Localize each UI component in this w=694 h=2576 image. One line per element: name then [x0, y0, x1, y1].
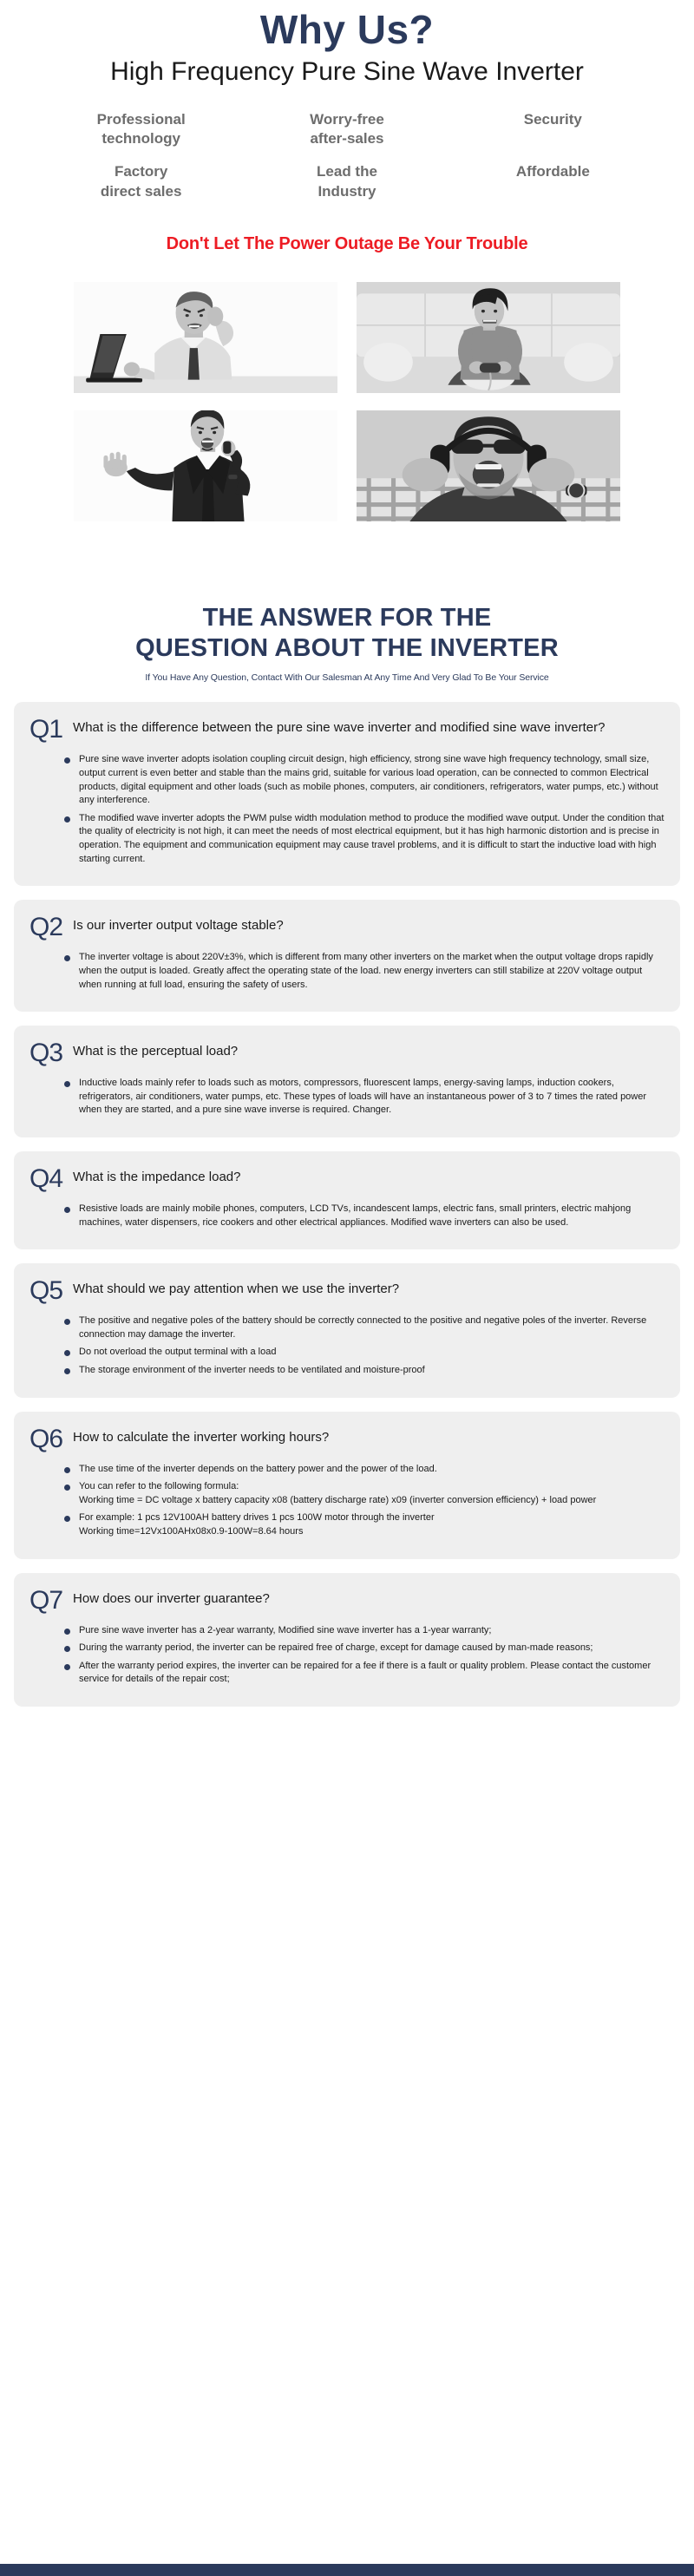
- faq-question: How does our inverter guarantee?: [73, 1587, 270, 1608]
- faq-answer-text: Pure sine wave inverter adopts isolation…: [79, 753, 665, 807]
- page-subtitle: High Frequency Pure Sine Wave Inverter: [0, 57, 694, 86]
- faq-answer-text: During the warranty period, the inverter…: [79, 1642, 593, 1655]
- answer-subheading: If You Have Any Question, Contact With O…: [17, 672, 677, 683]
- feature-item: Affordable: [450, 162, 656, 200]
- faq-answer-item: Resistive loads are mainly mobile phones…: [64, 1203, 665, 1229]
- bullet-icon: [64, 816, 70, 823]
- faq-list: Q1 What is the difference between the pu…: [0, 683, 694, 1707]
- feature-item: Lead the Industry: [244, 162, 449, 200]
- faq-answer-item: The storage environment of the inverter …: [64, 1364, 665, 1378]
- faq-number: Q3: [29, 1039, 62, 1066]
- faq-answer-item: During the warranty period, the inverter…: [64, 1642, 665, 1655]
- faq-answer-text: Pure sine wave inverter has a 2-year war…: [79, 1624, 491, 1638]
- faq-number: Q7: [29, 1587, 62, 1614]
- faq-answer-text: The use time of the inverter depends on …: [79, 1463, 437, 1477]
- faq-header: Q4 What is the impedance load?: [29, 1165, 665, 1192]
- hero-section: Why Us? High Frequency Pure Sine Wave In…: [0, 0, 694, 86]
- feature-item: Professional technology: [38, 110, 244, 148]
- bullet-icon: [64, 1319, 70, 1325]
- answer-heading-line1: THE ANSWER FOR THE: [203, 604, 492, 632]
- faq-question: What should we pay attention when we use…: [73, 1277, 399, 1298]
- faq-question: What is the perceptual load?: [73, 1039, 238, 1060]
- photo-screaming-man-with-headphones: [357, 410, 620, 521]
- faq-answer-item: For example: 1 pcs 12V100AH battery driv…: [64, 1511, 665, 1538]
- bullet-icon: [64, 757, 70, 764]
- faq-card[interactable]: Q7 How does our inverter guarantee? Pure…: [14, 1573, 680, 1707]
- faq-header: Q3 What is the perceptual load?: [29, 1039, 665, 1066]
- faq-card[interactable]: Q1 What is the difference between the pu…: [14, 702, 680, 886]
- bullet-icon: [64, 1485, 70, 1491]
- faq-question: How to calculate the inverter working ho…: [73, 1426, 329, 1446]
- faq-answers: Pure sine wave inverter adopts isolation…: [64, 753, 665, 866]
- faq-answer-text: The storage environment of the inverter …: [79, 1364, 425, 1378]
- faq-card[interactable]: Q6 How to calculate the inverter working…: [14, 1412, 680, 1559]
- faq-answer-item: You can refer to the following formula: …: [64, 1480, 665, 1507]
- faq-answer-text: Inductive loads mainly refer to loads su…: [79, 1077, 665, 1118]
- faq-answer-item: The use time of the inverter depends on …: [64, 1463, 665, 1477]
- faq-answer-item: The inverter voltage is about 220V±3%, w…: [64, 951, 665, 992]
- faq-number: Q4: [29, 1165, 62, 1192]
- bullet-icon: [64, 1081, 70, 1087]
- faq-card[interactable]: Q3 What is the perceptual load? Inductiv…: [14, 1026, 680, 1137]
- faq-number: Q6: [29, 1426, 62, 1452]
- faq-question: What is the impedance load?: [73, 1165, 240, 1186]
- faq-header: Q2 Is our inverter output voltage stable…: [29, 914, 665, 941]
- faq-header: Q6 How to calculate the inverter working…: [29, 1426, 665, 1452]
- faq-answer-text: You can refer to the following formula: …: [79, 1480, 596, 1507]
- photo-frustrated-woman-with-game-controller: [357, 282, 620, 393]
- faq-header: Q1 What is the difference between the pu…: [29, 716, 665, 743]
- bullet-icon: [64, 1467, 70, 1473]
- footer-bar: [0, 2564, 694, 2576]
- faq-answer-text: After the warranty period expires, the i…: [79, 1660, 665, 1687]
- feature-item: Worry-free after-sales: [244, 110, 449, 148]
- photo-grid: [0, 254, 694, 521]
- faq-header: Q7 How does our inverter guarantee?: [29, 1587, 665, 1614]
- photo-angry-businessman-at-laptop: [74, 282, 337, 393]
- page-title: Why Us?: [0, 9, 694, 50]
- faq-answer-text: The positive and negative poles of the b…: [79, 1314, 665, 1341]
- power-outage-banner: Don't Let The Power Outage Be Your Troub…: [0, 234, 694, 254]
- faq-answers: The positive and negative poles of the b…: [64, 1314, 665, 1377]
- faq-number: Q1: [29, 716, 62, 743]
- faq-answer-item: The positive and negative poles of the b…: [64, 1314, 665, 1341]
- faq-answers: Inductive loads mainly refer to loads su…: [64, 1077, 665, 1118]
- faq-answers: Resistive loads are mainly mobile phones…: [64, 1203, 665, 1229]
- faq-card[interactable]: Q2 Is our inverter output voltage stable…: [14, 900, 680, 1012]
- faq-answers: The use time of the inverter depends on …: [64, 1463, 665, 1539]
- faq-answer-text: The inverter voltage is about 220V±3%, w…: [79, 951, 665, 992]
- faq-answer-item: Pure sine wave inverter has a 2-year war…: [64, 1624, 665, 1638]
- bullet-icon: [64, 1350, 70, 1356]
- bullet-icon: [64, 1646, 70, 1652]
- faq-question: Is our inverter output voltage stable?: [73, 914, 284, 934]
- faq-number: Q2: [29, 914, 62, 941]
- faq-answer-item: After the warranty period expires, the i…: [64, 1660, 665, 1687]
- faq-answer-item: The modified wave inverter adopts the PW…: [64, 812, 665, 866]
- faq-answer-item: Do not overload the output terminal with…: [64, 1346, 665, 1360]
- faq-card[interactable]: Q4 What is the impedance load? Resistive…: [14, 1151, 680, 1249]
- faq-answers: Pure sine wave inverter has a 2-year war…: [64, 1624, 665, 1687]
- bullet-icon: [64, 1207, 70, 1213]
- faq-answer-text: For example: 1 pcs 12V100AH battery driv…: [79, 1511, 435, 1538]
- faq-answer-text: Do not overload the output terminal with…: [79, 1346, 276, 1360]
- faq-answers: The inverter voltage is about 220V±3%, w…: [64, 951, 665, 992]
- feature-item: Security: [450, 110, 656, 148]
- faq-question: What is the difference between the pure …: [73, 716, 605, 737]
- answer-heading: THE ANSWER FOR THE QUESTION ABOUT THE IN…: [17, 603, 677, 665]
- faq-answer-item: Inductive loads mainly refer to loads su…: [64, 1077, 665, 1118]
- feature-grid: Professional technology Worry-free after…: [0, 86, 694, 200]
- answer-heading-line2: QUESTION ABOUT THE INVERTER: [135, 634, 559, 662]
- bullet-icon: [64, 1368, 70, 1374]
- feature-item: Factory direct sales: [38, 162, 244, 200]
- faq-answer-item: Pure sine wave inverter adopts isolation…: [64, 753, 665, 807]
- answer-section-header: THE ANSWER FOR THE QUESTION ABOUT THE IN…: [0, 603, 694, 684]
- faq-answer-text: Resistive loads are mainly mobile phones…: [79, 1203, 665, 1229]
- faq-header: Q5 What should we pay attention when we …: [29, 1277, 665, 1304]
- faq-answer-text: The modified wave inverter adopts the PW…: [79, 812, 665, 866]
- faq-number: Q5: [29, 1277, 62, 1304]
- bullet-icon: [64, 1516, 70, 1522]
- bullet-icon: [64, 1664, 70, 1670]
- faq-card[interactable]: Q5 What should we pay attention when we …: [14, 1263, 680, 1397]
- bullet-icon: [64, 1629, 70, 1635]
- bullet-icon: [64, 955, 70, 961]
- photo-shouting-man-in-suit-on-phone: [74, 410, 337, 521]
